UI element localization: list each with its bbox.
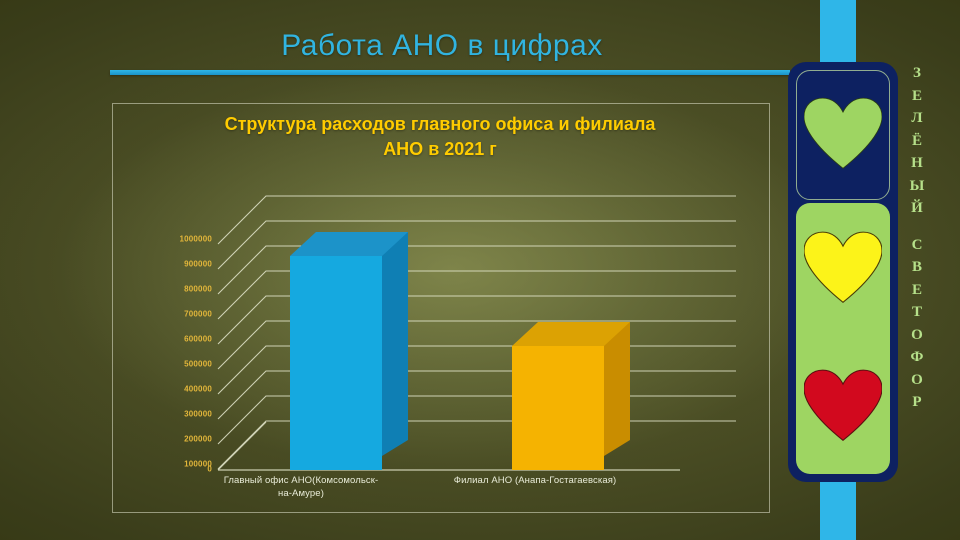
chart-gridlines xyxy=(140,175,750,485)
page-title: Работа АНО в цифрах xyxy=(112,24,772,68)
yellow-heart-icon xyxy=(804,212,882,324)
bar-branch-office[interactable] xyxy=(512,315,622,470)
logo-letter: Ы xyxy=(910,175,925,198)
logo-letter: Е xyxy=(912,279,922,302)
logo-letter: Й xyxy=(911,197,923,220)
logo-letter: В xyxy=(912,256,922,279)
category-label-line: Филиал АНО (Анапа-Гостагаевская) xyxy=(420,474,650,487)
category-label-main-office: Главный офис АНО(Комсомольск- на-Амуре) xyxy=(196,474,406,500)
bar-side-face xyxy=(382,232,408,456)
bar-chart-plot-area: 1000000 900000 800000 700000 600000 5000… xyxy=(140,175,750,485)
bar-front-face xyxy=(512,346,604,470)
logo-letter: З xyxy=(913,62,921,85)
title-divider xyxy=(110,70,790,75)
logo-letter: О xyxy=(911,369,923,392)
bar-main-office[interactable] xyxy=(290,225,400,470)
logo-vertical-text: З Е Л Ё Н Ы Й С В Е Т О Ф О Р xyxy=(900,62,934,482)
bar-front-face xyxy=(290,256,382,470)
green-heart-icon xyxy=(804,78,882,190)
logo-letter: Р xyxy=(912,391,921,414)
category-label-branch: Филиал АНО (Анапа-Гостагаевская) xyxy=(420,474,650,487)
red-heart-icon xyxy=(804,350,882,462)
chart-title-line-2: АНО в 2021 г xyxy=(130,137,750,162)
presentation-slide: Работа АНО в цифрах Структура расходов г… xyxy=(0,0,960,540)
category-label-line: на-Амуре) xyxy=(196,487,406,500)
logo-letter: Е xyxy=(912,85,922,108)
logo-letter: С xyxy=(912,234,923,257)
logo-word-bottom: С В Е Т О Ф О Р xyxy=(911,234,924,414)
logo-letter: Н xyxy=(911,152,923,175)
logo-letter: Ф xyxy=(911,346,924,369)
chart-title-line-1: Структура расходов главного офиса и фили… xyxy=(130,112,750,137)
logo-letter: О xyxy=(911,324,923,347)
chart-title: Структура расходов главного офиса и фили… xyxy=(130,112,750,162)
logo-letter: Ё xyxy=(912,130,922,153)
category-label-line: Главный офис АНО(Комсомольск- xyxy=(196,474,406,487)
logo-letter: Л xyxy=(911,107,922,130)
logo-word-top: З Е Л Ё Н Ы Й xyxy=(910,62,925,220)
logo-letter: Т xyxy=(912,301,922,324)
